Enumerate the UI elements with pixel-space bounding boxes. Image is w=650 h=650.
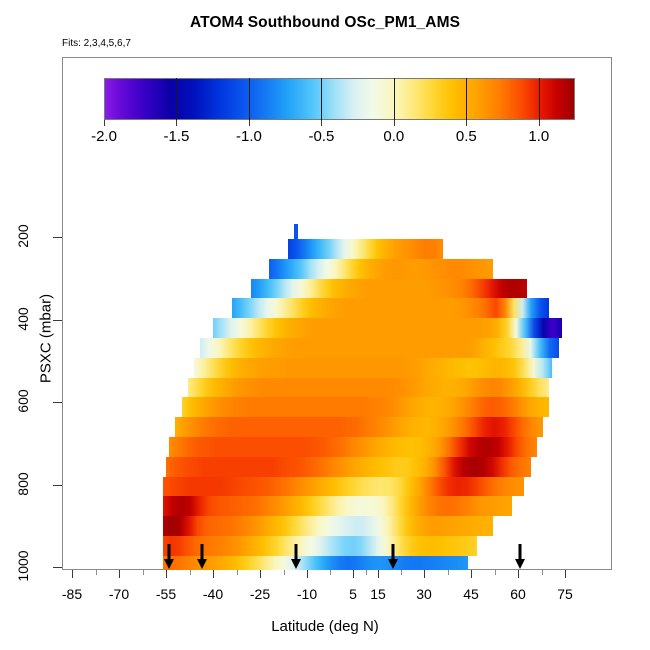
heatmap-row (163, 496, 512, 516)
x-axis-minor-tick (401, 570, 402, 575)
y-axis-tick-label: 400 (15, 296, 31, 342)
heatmap-row (194, 358, 552, 378)
x-axis-tick-label: 75 (557, 586, 573, 602)
fits-annotation: Fits: 2,3,4,5,6,7 (62, 38, 131, 49)
x-axis-tick-label: -70 (109, 586, 129, 602)
colorbar-divider (249, 78, 250, 120)
x-axis-minor-tick (190, 570, 191, 575)
heatmap-row (163, 516, 493, 536)
flight-arrow-icon (163, 544, 176, 570)
x-axis-minor-tick (542, 570, 543, 575)
heatmap-row (200, 338, 558, 358)
x-axis-tick-label: -10 (297, 586, 317, 602)
x-axis-tick-label: -55 (156, 586, 176, 602)
x-axis-tick (72, 570, 73, 578)
x-axis-minor-tick (330, 570, 331, 575)
colorbar-tick (466, 120, 467, 126)
heatmap-row (232, 298, 550, 318)
x-axis-tick-label: 60 (510, 586, 526, 602)
flight-arrow-icon (513, 544, 526, 570)
colorbar-tick-label: 0.5 (456, 128, 477, 145)
x-axis-tick (378, 570, 379, 578)
colorbar-divider (176, 78, 177, 120)
x-axis-minor-tick (366, 570, 367, 575)
colorbar: -2.0-1.5-1.0-0.50.00.51.0 (104, 78, 575, 120)
heatmap-row (269, 259, 493, 279)
heatmap-row (166, 457, 531, 477)
colorbar-gradient (104, 78, 575, 120)
colorbar-tick (539, 120, 540, 126)
y-axis-title: PSXC (mbar) (38, 259, 55, 419)
colorbar-divider (466, 78, 467, 120)
heatmap-row (169, 437, 537, 457)
x-axis-tick (353, 570, 354, 578)
y-axis-tick (53, 485, 62, 486)
x-axis-tick-label: -25 (250, 586, 270, 602)
heatmap-row (182, 397, 550, 417)
plot-root: ATOM4 Southbound OSc_PM1_AMS Fits: 2,3,4… (0, 0, 650, 650)
x-axis-tick-label: -85 (62, 586, 82, 602)
colorbar-tick-label: 1.0 (528, 128, 549, 145)
x-axis-minor-tick (237, 570, 238, 575)
x-axis-tick-label: 45 (463, 586, 479, 602)
x-axis-tick (213, 570, 214, 578)
x-axis-tick (260, 570, 261, 578)
heatmap-row (288, 239, 443, 259)
heatmap-row (188, 378, 549, 398)
x-axis-minor-tick (284, 570, 285, 575)
x-axis-minor-tick (448, 570, 449, 575)
flight-arrow-icon (387, 544, 400, 570)
x-axis-minor-tick (96, 570, 97, 575)
x-axis-tick (471, 570, 472, 578)
heatmap-row (213, 318, 562, 338)
page-title: ATOM4 Southbound OSc_PM1_AMS (0, 14, 650, 32)
x-axis-minor-tick (495, 570, 496, 575)
heatmap-row (251, 279, 528, 299)
y-axis-tick (53, 320, 62, 321)
x-axis-tick-label: 15 (370, 586, 386, 602)
x-axis-tick (307, 570, 308, 578)
colorbar-divider (321, 78, 322, 120)
y-axis-tick (53, 402, 62, 403)
colorbar-tick (176, 120, 177, 126)
x-axis-tick (518, 570, 519, 578)
y-axis-tick (53, 567, 62, 568)
x-axis-title: Latitude (deg N) (0, 618, 650, 635)
colorbar-tick-label: -0.5 (308, 128, 334, 145)
colorbar-tick-label: 0.0 (383, 128, 404, 145)
flight-arrow-icon (290, 544, 303, 570)
colorbar-tick (394, 120, 395, 126)
x-axis-tick (565, 570, 566, 578)
colorbar-tick-label: -1.5 (164, 128, 190, 145)
heatmap-row (163, 477, 524, 497)
x-axis-tick-label: 30 (416, 586, 432, 602)
x-axis-tick (119, 570, 120, 578)
y-axis-tick-label: 600 (15, 378, 31, 424)
data-spike (294, 224, 298, 239)
x-axis-tick-label: 5 (349, 586, 357, 602)
x-axis-tick-label: -40 (203, 586, 223, 602)
colorbar-tick-label: -1.0 (236, 128, 262, 145)
heatmap-row (163, 556, 468, 570)
colorbar-tick (104, 120, 105, 126)
heatmap-row (163, 536, 477, 556)
x-axis-tick (424, 570, 425, 578)
colorbar-tick (321, 120, 322, 126)
colorbar-tick (249, 120, 250, 126)
colorbar-divider (394, 78, 395, 120)
y-axis-tick-label: 200 (15, 213, 31, 259)
y-axis-tick-label: 1000 (15, 543, 31, 589)
y-axis-tick-label: 800 (15, 461, 31, 507)
colorbar-divider (539, 78, 540, 120)
x-axis-tick (166, 570, 167, 578)
flight-arrow-icon (196, 544, 209, 570)
x-axis-minor-tick (143, 570, 144, 575)
colorbar-tick-label: -2.0 (91, 128, 117, 145)
heatmap-row (175, 417, 543, 437)
y-axis-tick (53, 237, 62, 238)
